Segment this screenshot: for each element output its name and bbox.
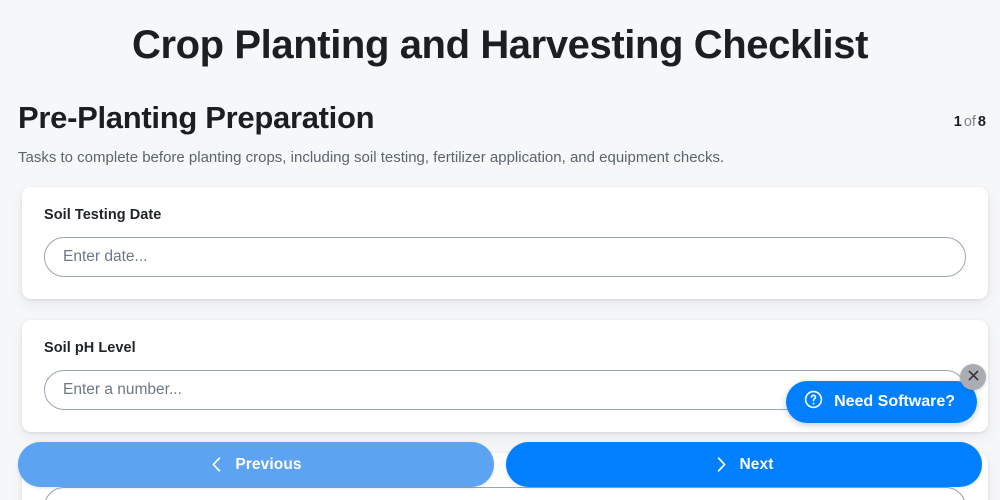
help-close-button[interactable] [960, 364, 986, 390]
next-button-label: Next [740, 456, 774, 474]
previous-button[interactable]: Previous [18, 442, 494, 487]
question-circle-icon [804, 390, 823, 414]
chevron-right-icon [715, 456, 728, 473]
step-total: 8 [978, 114, 986, 130]
section-description: Tasks to complete before planting crops,… [0, 135, 1000, 168]
page-title: Crop Planting and Harvesting Checklist [0, 0, 1000, 68]
step-counter: 1of8 [954, 114, 986, 135]
chevron-left-icon [210, 456, 223, 473]
section-header: Pre-Planting Preparation 1of8 [0, 68, 1000, 135]
help-widget: Need Software? [786, 381, 977, 423]
field-label-soil-ph-level: Soil pH Level [44, 340, 966, 356]
field-card-soil-testing-date: Soil Testing Date [22, 187, 988, 299]
field-input-next-partial[interactable] [44, 487, 966, 500]
need-software-button[interactable]: Need Software? [786, 381, 977, 423]
step-current: 1 [954, 114, 962, 130]
step-separator: of [964, 114, 976, 130]
need-software-label: Need Software? [834, 393, 955, 411]
field-label-soil-testing-date: Soil Testing Date [44, 207, 966, 223]
checklist-page: Crop Planting and Harvesting Checklist P… [0, 0, 1000, 500]
field-input-soil-testing-date[interactable] [44, 237, 966, 277]
next-button[interactable]: Next [506, 442, 982, 487]
previous-button-label: Previous [235, 456, 301, 474]
close-icon [967, 369, 980, 385]
section-title: Pre-Planting Preparation [18, 101, 374, 135]
